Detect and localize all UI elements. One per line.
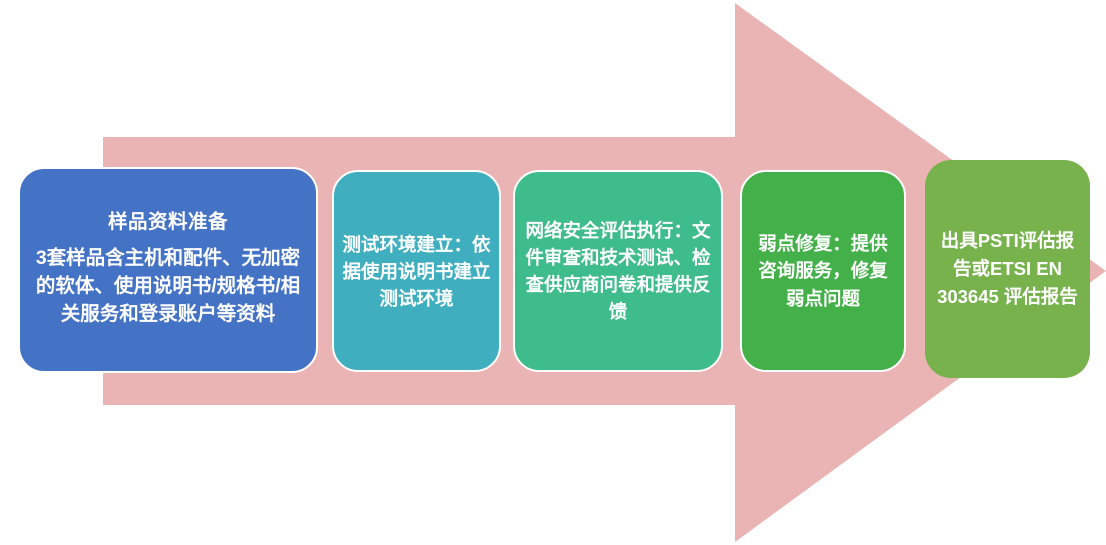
process-step-2[interactable]: 测试环境建立：依据使用说明书建立测试环境 (332, 170, 501, 372)
process-step-5-body: 出具PSTI评估报告或ETSI EN 303645 评估报告 (933, 227, 1082, 311)
process-step-5[interactable]: 出具PSTI评估报告或ETSI EN 303645 评估报告 (925, 160, 1090, 378)
process-step-3[interactable]: 网络安全评估执行：文件审查和技术测试、检查供应商问卷和提供反馈 (513, 170, 723, 372)
process-step-1-title: 样品资料准备 (108, 210, 228, 234)
process-step-1[interactable]: 样品资料准备 3套样品含主机和配件、无加密的软体、使用说明书/规格书/相关服务和… (18, 167, 318, 373)
process-step-3-body: 网络安全评估执行：文件审查和技术测试、检查供应商问卷和提供反馈 (523, 217, 713, 325)
process-step-4[interactable]: 弱点修复：提供咨询服务，修复弱点问题 (740, 170, 906, 372)
process-step-2-body: 测试环境建立：依据使用说明书建立测试环境 (342, 231, 491, 312)
process-flow-diagram: 样品资料准备 3套样品含主机和配件、无加密的软体、使用说明书/规格书/相关服务和… (0, 0, 1106, 545)
process-step-1-body: 3套样品含主机和配件、无加密的软体、使用说明书/规格书/相关服务和登录账户等资料 (30, 245, 306, 328)
process-step-4-body: 弱点修复：提供咨询服务，修复弱点问题 (750, 230, 896, 312)
